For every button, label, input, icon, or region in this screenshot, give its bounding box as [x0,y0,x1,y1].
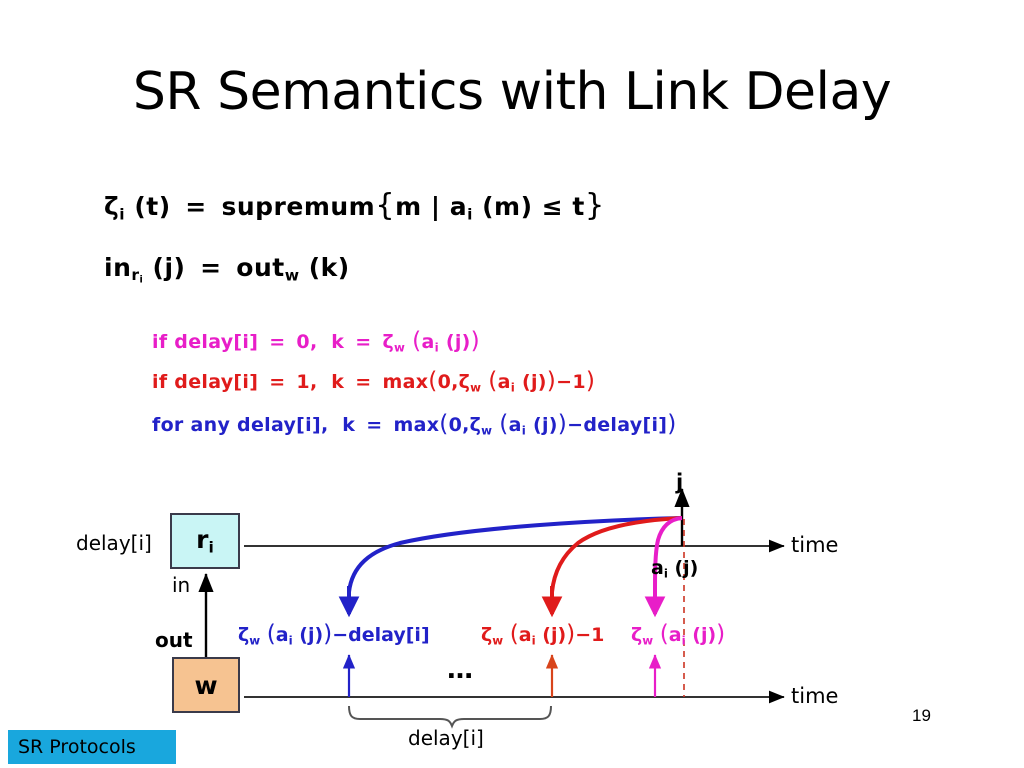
node-ri-label: ri [196,525,214,556]
equation-case-delay-zero-glyphs: if delay[i] = 0, k = ζw (ai (j)) [152,331,480,353]
equation-case-delay-one-glyphs: if delay[i] = 1, k = max(0,ζw (ai (j))−1… [152,371,595,393]
equation-case-delay-any-glyphs: for any delay[i], k = max(0,ζw (ai (j))−… [152,414,677,436]
node-ri-box[interactable]: ri [170,513,240,569]
magenta-delay-curve [655,518,682,592]
equation-zeta-glyphs: ζi (t) = supremum{m | ai (m) ≤ t} [104,192,605,221]
footer-label: SR Protocols [18,736,136,758]
time-label-bottom: time [791,684,838,708]
equation-case-delay-one: if delay[i] = 1, k = max(0,ζw (ai (j))−1… [152,367,595,394]
a-i-j-glyphs: ai (j) [651,557,698,579]
magenta-curve-label-glyphs: ζw (ai (j)) [631,624,725,646]
brace-delay-label: delay[i] [408,726,484,750]
red-delay-curve [552,518,682,592]
page-number: 19 [912,706,931,726]
equation-case-delay-zero: if delay[i] = 0, k = ζw (ai (j)) if dela… [152,327,480,354]
time-label-top: time [791,533,838,557]
equation-in-out: inri (j) = outw (k) inri (j) = outw (k) [104,253,350,286]
j-label: j [676,470,683,494]
a-i-j-label: ai (j) ai (j) [651,557,698,580]
blue-delay-curve [349,518,682,592]
blue-curve-label-glyphs: ζw (ai (j))−delay[i] [238,624,430,646]
equation-case-delay-any: for any delay[i], k = max(0,ζw (ai (j))−… [152,410,677,437]
blue-curve-label: ζw (ai (j))−delay[i] ζw (ai (j)) − delay… [238,620,430,647]
node-w-box[interactable]: w [172,657,240,713]
node-w-label: w [194,671,217,700]
delay-brace [349,706,551,726]
in-label: in [172,573,190,597]
footer-banner[interactable]: SR Protocols [8,730,176,764]
equation-zeta-definition: ζi (t) = supremum{m | ai (m) ≤ t} ζi (t)… [104,188,605,223]
slide-canvas: SR Semantics with Link Delay ζi (t) = su… [0,0,1024,768]
page-title: SR Semantics with Link Delay [0,62,1024,122]
red-curve-label-glyphs: ζw (ai (j))−1 [481,624,604,646]
delay-left-label: delay[i] [76,531,152,555]
out-label: out [155,628,193,652]
red-curve-label: ζw (ai (j))−1 ζw (ai (j)) − 1 [481,620,604,647]
ellipsis-label: … [447,655,475,685]
equation-in-out-glyphs: inri (j) = outw (k) [104,253,350,282]
magenta-curve-label: ζw (ai (j)) ζw (ai (j)) [631,620,725,647]
